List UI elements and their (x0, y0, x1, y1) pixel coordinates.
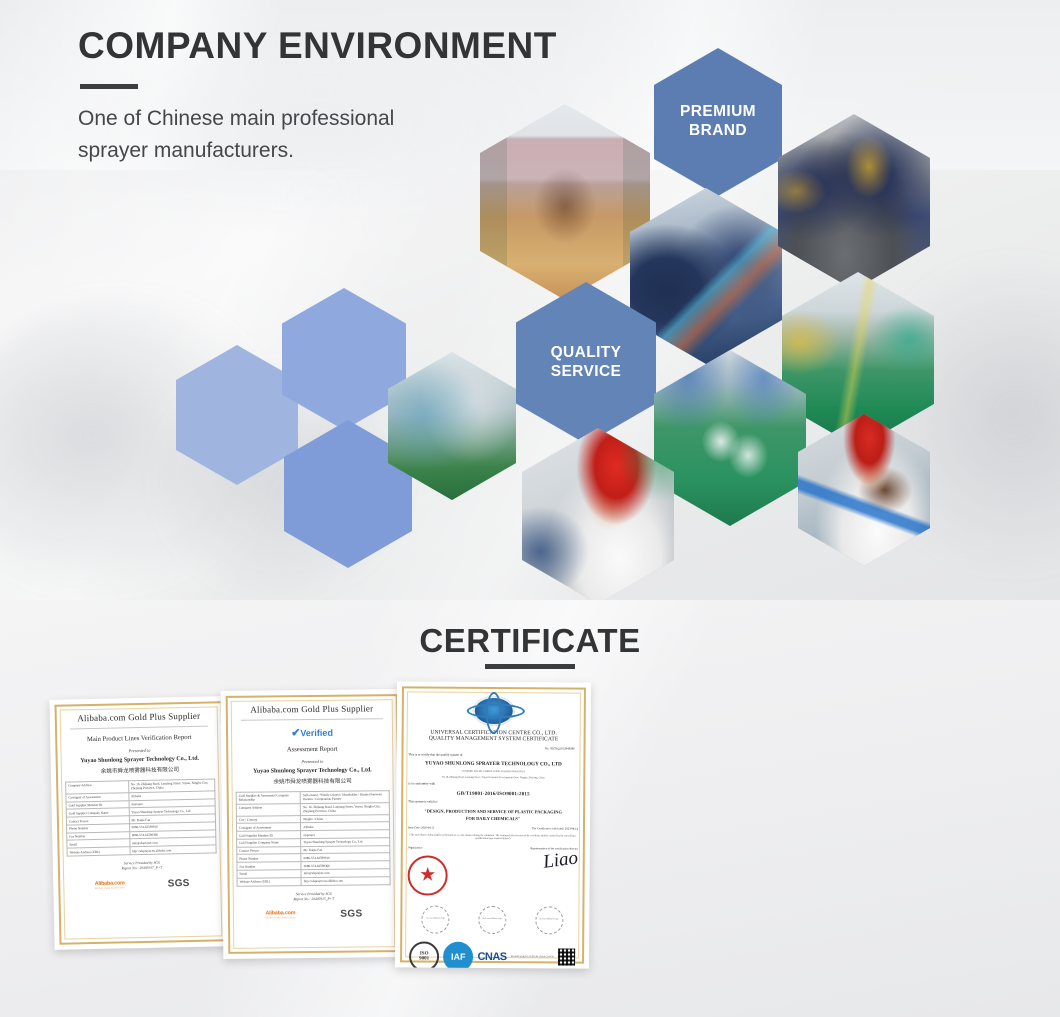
table-cell-value: http://slsprayer.en.alibaba.com (130, 845, 217, 855)
page-title: COMPANY ENVIRONMENT (78, 26, 557, 67)
iso-conformity: is in conformity with (408, 781, 578, 786)
quality-service-line2: SERVICE (551, 363, 622, 382)
iso-dates-row: Issue Date: 2020-04-15 The Certificate i… (408, 826, 578, 830)
certificate-presented-label: Presented to (64, 746, 214, 754)
table-cell-key: Company Address (236, 803, 300, 815)
certificate-underline (485, 664, 575, 669)
surveillance-seal-1: 1st surveillance logo (422, 905, 450, 933)
certificate-presented-label: Presented to (235, 758, 389, 765)
certificate-header: Alibaba.com Gold Plus Supplier (64, 710, 214, 723)
certificate-divider (241, 718, 383, 720)
iso-credit-code: ( UNIFIED SOCIAL CREDIT CODE: 9133028178… (408, 769, 578, 773)
iso-validity-line: This system is valid to: (408, 799, 578, 804)
hexagon-photo-worker-red-cap (522, 428, 674, 600)
hexagon-premium-brand: PREMIUM BRAND (654, 48, 782, 196)
globe-icon (473, 696, 515, 726)
iso-surveillance-seals: 1st surveillance logo 2nd surveillance l… (407, 905, 577, 934)
alibaba-logo: Alibaba.com Global trade starts here (265, 911, 295, 920)
iso9001-logo: ISO 9001 (409, 941, 439, 968)
iso-standard: GB/T19001-2016/ISO9001:2015 (408, 791, 578, 797)
iso-intro: This is to certify that the quality syst… (408, 752, 578, 757)
surveillance-seal-3: 3rd surveillance logo (535, 906, 563, 934)
quality-service-line1: QUALITY (551, 344, 622, 363)
iso-surveillance-note: (The surveillance audits shall be perfor… (408, 833, 578, 841)
iso-organization-label: Organization (408, 846, 448, 849)
title-underline (80, 84, 138, 89)
cnas-logo: CNAS (477, 951, 506, 963)
table-cell-key: Website Address (URL) (67, 847, 130, 856)
verified-badge: ✔Verified (235, 725, 389, 740)
alibaba-tagline: Global trade starts here (265, 917, 295, 920)
iso-signature-row: Organization Representative of the certi… (408, 846, 578, 896)
page-subtitle: One of Chinese main professional sprayer… (78, 103, 438, 167)
hexagon-photo-mold-inspection (778, 114, 930, 290)
table-cell-key: Website Address (URL) (237, 877, 301, 885)
certificate-detail-table: Company AddressNo. 16, Zhijiang Road, La… (65, 778, 217, 856)
certificate-card-iso9001[interactable]: UNIVERSAL CERTIFICATION CENTRE CO., LTD.… (395, 681, 591, 968)
photo-worker-machine (522, 428, 674, 600)
certificate-title: CERTIFICATE (0, 622, 1060, 660)
decor-hexagon-2 (282, 288, 406, 430)
certificate-card-assessment-report[interactable]: Alibaba.com Gold Plus Supplier ✔Verified… (221, 689, 406, 959)
photo-qc-lanyard (798, 414, 930, 566)
certificate-section: CERTIFICATE Alibaba.com Gold Plus Suppli… (0, 600, 1060, 1017)
certificate-content: Alibaba.com Gold Plus Supplier Main Prod… (64, 710, 219, 935)
company-environment-section: COMPANY ENVIRONMENT One of Chinese main … (0, 0, 1060, 600)
certificate-card-main-product-lines[interactable]: Alibaba.com Gold Plus Supplier Main Prod… (49, 696, 232, 950)
iaf-logo: IAF (443, 942, 473, 969)
certificate-company-en: Yuyao Shunlong Sprayer Technology Co., L… (235, 767, 389, 775)
table-cell-value: http://slsprayer.en.alibaba.com (301, 877, 390, 886)
table-cell-value: No. 16, Zhijiang Road, Lanjiang Street, … (301, 802, 390, 815)
iso-issuer-line2: QUALITY MANAGEMENT SYSTEM CERTIFICATE (409, 735, 579, 742)
headline-block: COMPANY ENVIRONMENT One of Chinese main … (78, 26, 557, 167)
iso-scope-line1: "DESIGN, PRODUCTION AND SERVICE OF PLAST… (408, 808, 578, 815)
table-cell-value: Self-owned / Wholly Owned / Shareholder … (300, 791, 389, 804)
iso-scope-line2: FOR DAILY CHEMICALS" (408, 815, 578, 822)
certificate-company-cn: 余姚市舜龙喷雾器科技有限公司 (65, 764, 215, 775)
surveillance-seal-2: 2nd surveillance logo (478, 906, 506, 934)
certificate-subheader: Assessment Report (235, 745, 389, 754)
iso-company-name: YUYAO SHUNLONG SPRAYER TECHNOLOGY CO., L… (408, 760, 578, 767)
premium-brand-line1: PREMIUM (680, 103, 756, 122)
certificate-subheader: Main Product Lines Verification Report (64, 733, 214, 743)
certificate-detail-table: Gold Supplier & Assessment Company Relat… (236, 790, 391, 886)
photo-mold-hivis (778, 114, 930, 290)
certificate-content: Alibaba.com Gold Plus Supplier ✔Verified… (235, 703, 392, 945)
certificate-company-cn: 余姚市舜龙喷雾器科技有限公司 (236, 776, 390, 786)
premium-brand-label: PREMIUM BRAND (654, 48, 782, 196)
iso-expiry-date: The Certificate is valid until: 2023-04-… (532, 827, 578, 830)
certificate-company-en: Yuyao Shunlong Sprayer Technology Co., L… (65, 755, 215, 764)
sgs-logo: SGS (340, 909, 362, 920)
certificate-header: Alibaba.com Gold Plus Supplier (235, 703, 389, 715)
alibaba-logo: Alibaba.com Global trade starts here (95, 880, 125, 890)
cnas-note: MANAGEMENT SYSTEM CNAS C024-M (511, 955, 554, 958)
certificate-report-no: Report No.: 20405915_P+T (237, 896, 391, 903)
certificate-table-body: Gold Supplier & Assessment Company Relat… (236, 791, 390, 886)
iso9001-logo-bottom: 9001 (419, 956, 429, 961)
red-star-stamp-icon (408, 855, 448, 895)
certificate-footer: Service Provided by SGS Report No.: 2040… (67, 859, 217, 873)
alibaba-tagline: Global trade starts here (95, 886, 125, 890)
certificate-table-body: Company AddressNo. 16, Zhijiang Road, La… (66, 779, 217, 856)
certificate-footer: Service Provided by SGS Report No.: 2040… (237, 891, 391, 903)
table-row: Website Address (URL)http://slsprayer.en… (237, 877, 390, 886)
qr-code-icon (558, 949, 575, 966)
certificate-divider (70, 726, 208, 730)
table-cell-key: Gold Supplier & Assessment Company Relat… (236, 792, 300, 804)
decor-hexagon-1 (176, 345, 298, 485)
iso-accreditation-logos: ISO 9001 IAF CNAS MANAGEMENT SYSTEM CNAS… (407, 941, 577, 968)
hexagon-photo-qc-inspector (798, 414, 930, 566)
iso-cert-no: No. 05ZXQ201394RIM (409, 745, 575, 750)
iso-certificate-content: UNIVERSAL CERTIFICATION CENTRE CO., LTD.… (407, 693, 579, 956)
premium-brand-line2: BRAND (689, 122, 747, 141)
iso-address: No.16, Zhijiang Road, Lanjiang Street, Y… (408, 775, 578, 779)
verified-label: Verified (300, 728, 333, 738)
signature: Liao (529, 847, 579, 875)
iso-issue-date: Issue Date: 2020-04-15 (408, 826, 434, 829)
certificate-logo-row: Alibaba.com Global trade starts here SGS (67, 877, 217, 891)
sgs-logo: SGS (168, 878, 190, 889)
certificate-logo-row: Alibaba.com Global trade starts here SGS (237, 909, 391, 922)
